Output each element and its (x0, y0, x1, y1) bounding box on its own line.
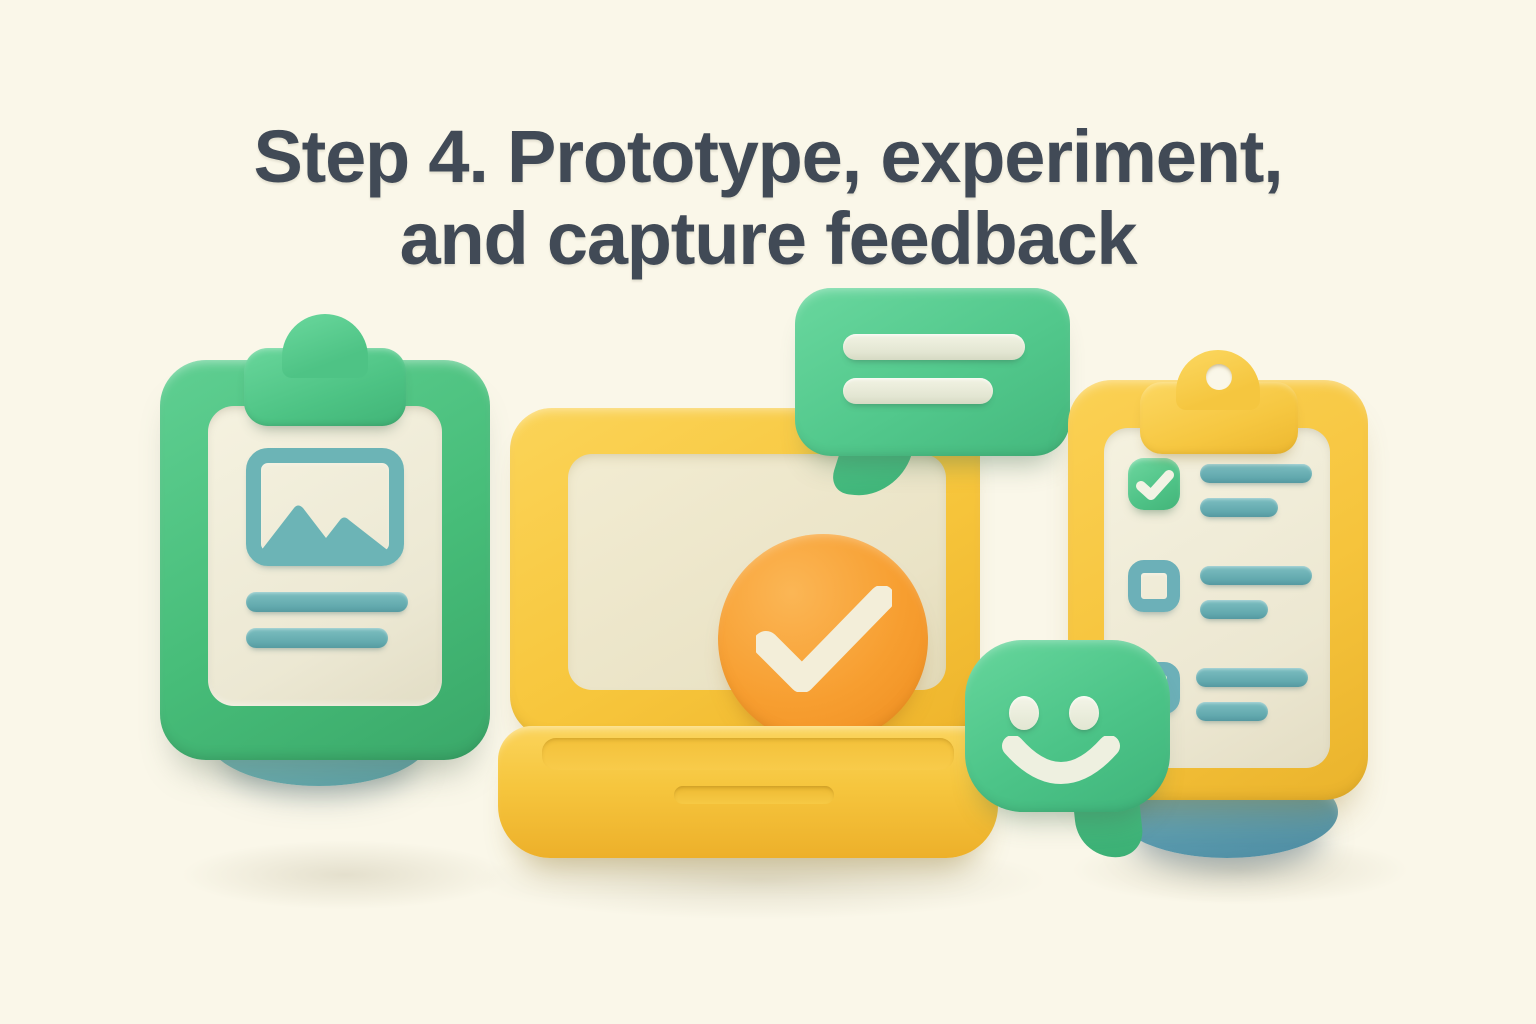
image-placeholder-icon (246, 448, 404, 566)
image-clipboard (160, 360, 490, 780)
checklist-line (1200, 498, 1278, 517)
message-line (843, 378, 993, 404)
checkbox-empty[interactable] (1128, 560, 1180, 612)
smiley-feedback-bubble (965, 640, 1180, 860)
clipboard-clip-right (1140, 382, 1298, 454)
smiley-eye-left (1009, 696, 1039, 730)
check-circle-icon (718, 534, 928, 744)
page-title: Step 4. Prototype, experiment, and captu… (0, 116, 1536, 282)
laptop-keyboard (542, 738, 954, 770)
checklist-line (1200, 566, 1312, 585)
illustration-canvas: Step 4. Prototype, experiment, and captu… (0, 0, 1536, 1024)
message-line (843, 334, 1025, 360)
text-line (246, 628, 388, 648)
checklist-line (1196, 702, 1268, 721)
smiley-eye-right (1069, 696, 1099, 730)
ground-shadow-left (180, 840, 510, 910)
bubble-body (965, 640, 1170, 812)
checklist-line (1196, 668, 1308, 687)
clipboard-page-left (208, 406, 442, 706)
checklist-line (1200, 600, 1268, 619)
bubble-body (795, 288, 1070, 456)
clipboard-frame-left (160, 360, 490, 760)
text-line (246, 592, 408, 612)
laptop-trackpad (674, 786, 834, 804)
smiley-mouth-icon (1001, 736, 1121, 794)
checklist-line (1200, 464, 1312, 483)
message-bubble (795, 288, 1070, 498)
clipboard-clip-left (244, 348, 406, 426)
checkbox-checked[interactable] (1128, 458, 1180, 510)
